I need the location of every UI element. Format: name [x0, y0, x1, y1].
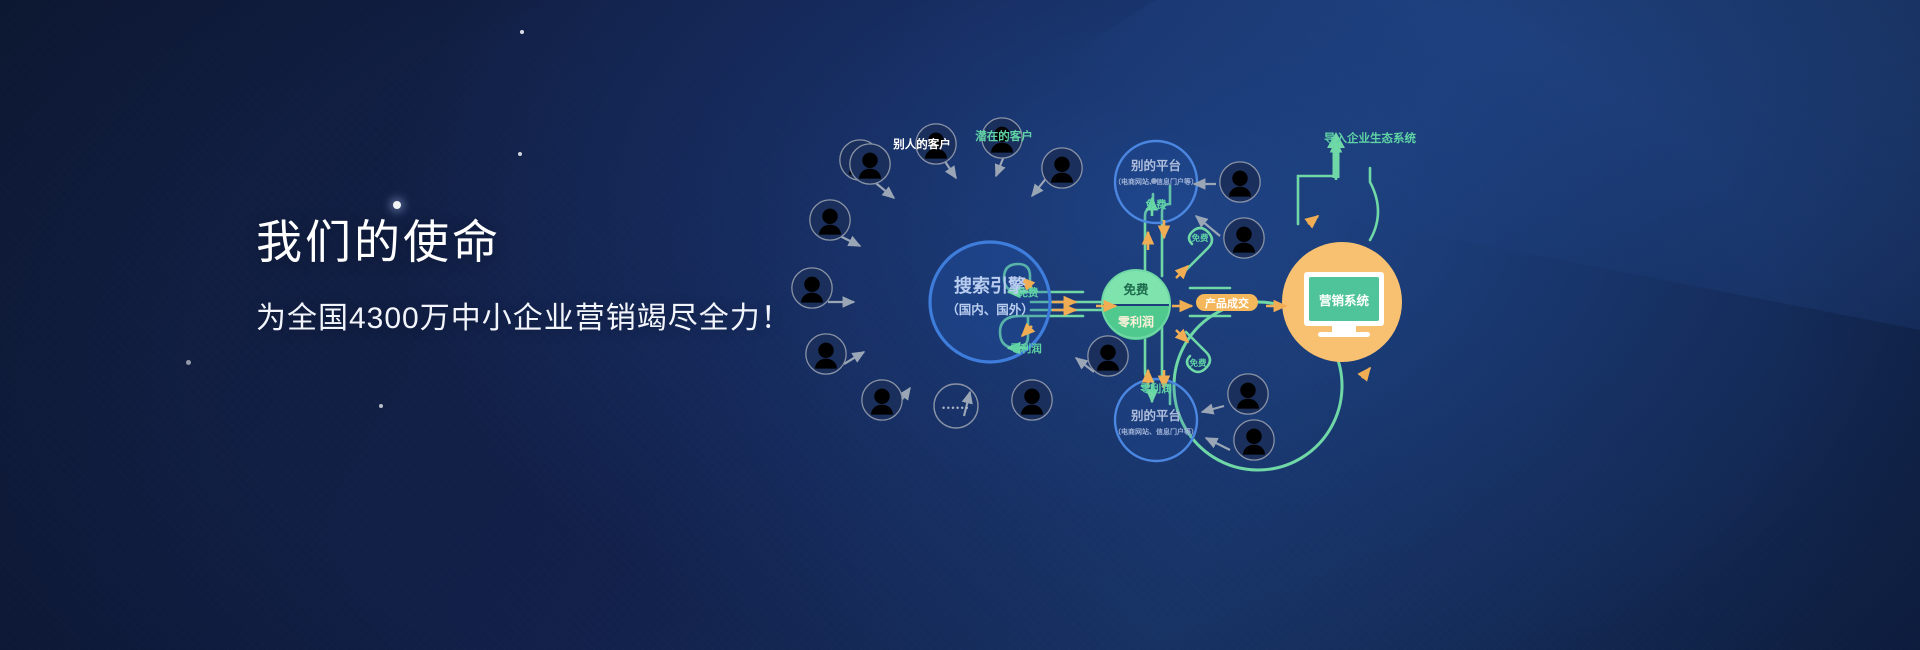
platform-top-title: 别的平台 [1130, 158, 1181, 173]
platform-bottom-subtitle: （电商网站、信息门户等） [1114, 427, 1198, 436]
platform-bottom-title: 别的平台 [1130, 408, 1181, 423]
hero-subtitle: 为全国4300万中小企业营销竭尽全力！ [256, 299, 956, 338]
marketing-ecosystem-diagram: •••••• 别人的客户 潜在的客户 导入企业生态系统 搜索引擎 （国内、国外）… [900, 120, 1520, 440]
avatar [1088, 336, 1128, 376]
connector-label-free-upper-right: 免费 [1191, 233, 1209, 243]
avatar [1042, 148, 1082, 188]
avatar [1234, 420, 1274, 460]
sparkle-dot [520, 30, 524, 34]
avatar [862, 380, 902, 420]
search-engine-title: 搜索引擎 [954, 275, 1026, 296]
avatar [1224, 218, 1264, 258]
platform-top-subtitle: （电商网站、信息门户等） [1114, 177, 1198, 186]
avatar [792, 268, 832, 308]
deal-pill-label: 产品成交 [1205, 296, 1249, 310]
avatar [1012, 380, 1052, 420]
platform-top-badge: 免费 [1146, 198, 1168, 211]
label-others-customers: 别人的客户 [892, 137, 951, 151]
sparkle-dot [393, 201, 401, 209]
label-import-ecosystem: 导入企业生态系统 [1324, 131, 1416, 145]
hero-copy: 我们的使命 为全国4300万中小企业营销竭尽全力！ [256, 215, 956, 338]
sparkle-dot [379, 404, 383, 408]
avatar [1228, 374, 1268, 414]
avatar [850, 144, 890, 184]
sparkle-dot [186, 360, 191, 365]
more-customers-label: •••••• [942, 403, 970, 413]
hub-top-label: 免费 [1123, 282, 1149, 297]
node-more-customers: •••••• [934, 384, 978, 428]
search-engine-subtitle: （国内、国外） [946, 302, 1034, 317]
avatar [806, 334, 846, 374]
avatar [810, 200, 850, 240]
connector-label-free-lower-right: 免费 [1189, 358, 1207, 368]
hub-bottom-label: 零利润 [1117, 314, 1154, 329]
label-potential-customers: 潜在的客户 [975, 129, 1033, 143]
platform-bottom-badge: 零利润 [1139, 382, 1172, 395]
sparkle-dot [518, 152, 522, 156]
avatar [1220, 162, 1260, 202]
connector-label-free-upper-left: 免费 [1018, 286, 1040, 299]
connector-label-zero-profit-lower-left: 零利润 [1009, 342, 1042, 355]
marketing-system-label: 营销系统 [1319, 293, 1370, 308]
hero-banner: 我们的使命 为全国4300万中小企业营销竭尽全力！ [0, 0, 1920, 650]
